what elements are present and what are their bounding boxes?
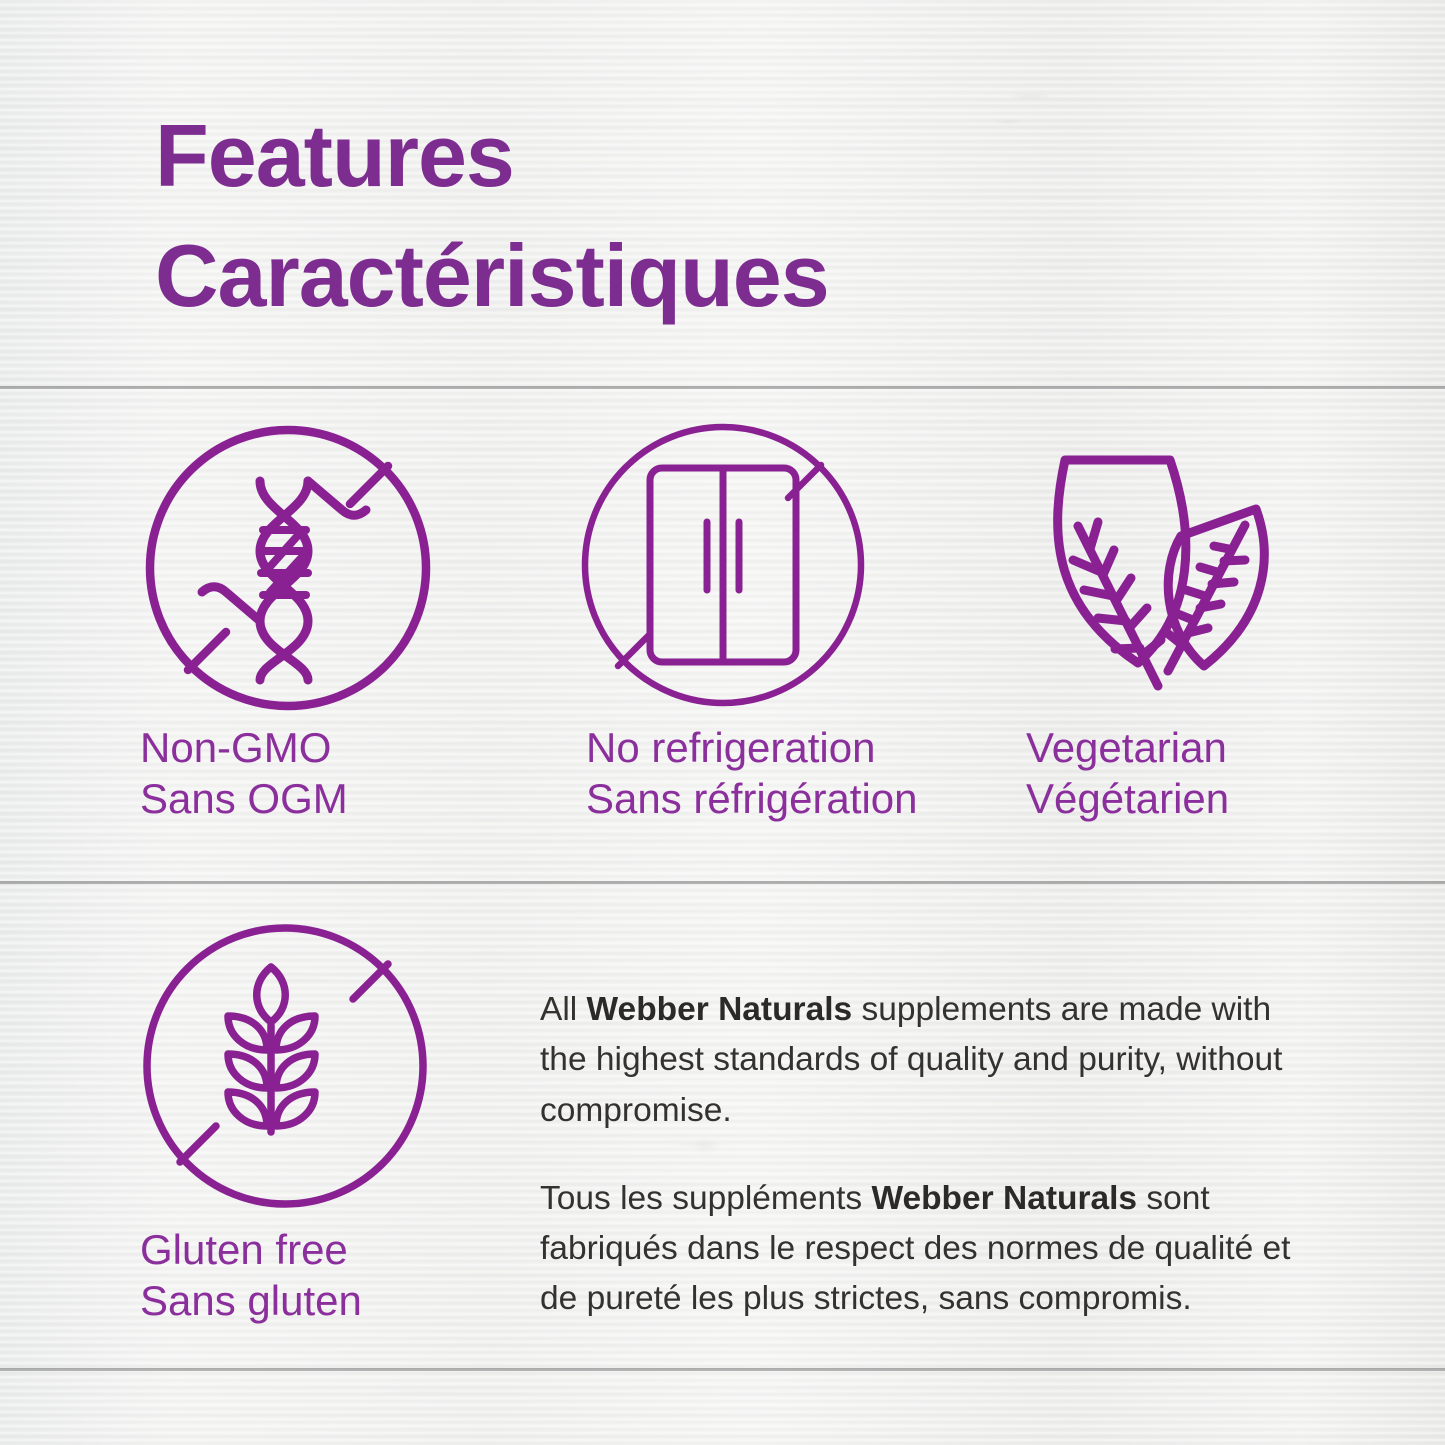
feature-label-en: No refrigeration (586, 722, 918, 773)
copy-en-before: All (540, 991, 587, 1028)
feature-labels: Non-GMO Sans OGM (140, 722, 430, 824)
feature-label-en: Non-GMO (140, 722, 430, 773)
vegetarian-leaves-icon (1018, 418, 1308, 708)
brand-statement: All Webber Naturals supplements are made… (540, 985, 1320, 1325)
gluten-free-wheat-icon (140, 920, 430, 1210)
features-panel: Features Caractéristiques (0, 0, 1445, 1445)
brand-statement-english: All Webber Naturals supplements are made… (540, 985, 1320, 1136)
feature-no-refrigeration: No refrigeration Sans réfrigération (578, 418, 918, 824)
feature-label-en: Gluten free (140, 1224, 430, 1275)
feature-label-fr: Végétarien (1026, 773, 1308, 824)
feature-label-en: Vegetarian (1026, 722, 1308, 773)
no-refrigeration-fridge-icon (578, 418, 868, 708)
page-title: Features Caractéristiques (155, 96, 1305, 335)
feature-label-fr: Sans réfrigération (586, 773, 918, 824)
brand-statement-french: Tous les suppléments Webber Naturals son… (540, 1174, 1320, 1325)
title-line-english: Features (155, 96, 1305, 216)
feature-label-fr: Sans gluten (140, 1275, 430, 1326)
no-gmo-dna-icon (140, 418, 430, 708)
title-line-french: Caractéristiques (155, 216, 1305, 336)
feature-label-fr: Sans OGM (140, 773, 430, 824)
feature-non-gmo: Non-GMO Sans OGM (140, 418, 430, 824)
feature-labels: Gluten free Sans gluten (140, 1224, 430, 1326)
feature-labels: No refrigeration Sans réfrigération (578, 722, 918, 824)
feature-vegetarian: Vegetarian Végétarien (1018, 418, 1308, 824)
feature-gluten-free: Gluten free Sans gluten (140, 920, 430, 1326)
brand-name-en: Webber Naturals (587, 991, 853, 1028)
brand-name-fr: Webber Naturals (871, 1180, 1137, 1217)
feature-labels: Vegetarian Végétarien (1018, 722, 1308, 824)
copy-fr-before: Tous les suppléments (540, 1180, 871, 1217)
